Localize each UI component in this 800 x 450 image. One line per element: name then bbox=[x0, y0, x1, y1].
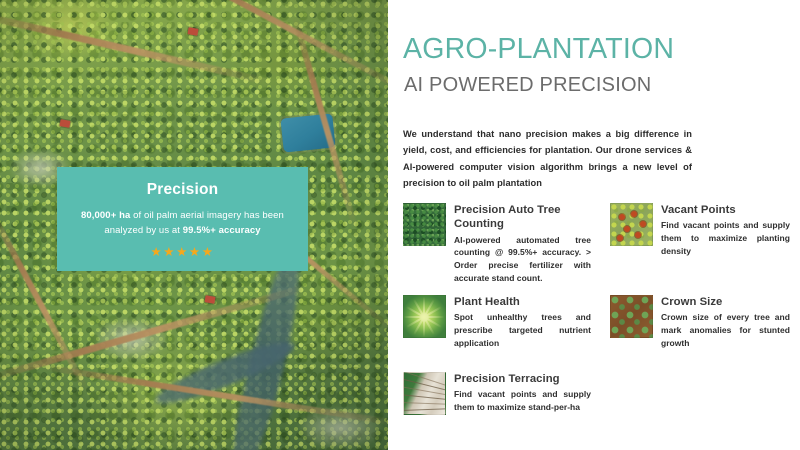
vacant-marker-dot bbox=[617, 235, 623, 241]
terracing-thumbnail bbox=[403, 372, 446, 415]
rating-stars: ★★★★★ bbox=[150, 246, 214, 259]
vacant-marker-dot bbox=[624, 226, 630, 232]
feature-precision-terracing: Precision Terracing Find vacant points a… bbox=[403, 372, 591, 415]
vacant-points-thumbnail bbox=[610, 203, 653, 246]
feature-tree-counting: Precision Auto Tree Counting AI-powered … bbox=[403, 203, 591, 284]
feature-description: Spot unhealthy trees and prescribe targe… bbox=[454, 311, 591, 349]
feature-title: Precision Auto Tree Counting bbox=[454, 203, 591, 232]
intro-paragraph: We understand that nano precision makes … bbox=[403, 126, 692, 191]
terrace-contour-line bbox=[403, 394, 446, 402]
callout-title: Precision bbox=[147, 181, 219, 199]
feature-title: Crown Size bbox=[661, 295, 790, 309]
feature-text-block: Precision Auto Tree Counting AI-powered … bbox=[454, 203, 591, 284]
slide-canvas: Precision 80,000+ ha of oil palm aerial … bbox=[0, 0, 800, 450]
feature-description: Crown size of every tree and mark anomal… bbox=[661, 311, 790, 349]
aerial-plantation-image: Precision 80,000+ ha of oil palm aerial … bbox=[0, 0, 388, 450]
callout-stat-value: 80,000+ ha bbox=[81, 210, 130, 221]
feature-description: Find vacant points and supply them to ma… bbox=[661, 219, 790, 257]
feature-text-block: Plant Health Spot unhealthy trees and pr… bbox=[454, 295, 591, 349]
feature-title: Precision Terracing bbox=[454, 372, 591, 386]
vacant-marker-dot bbox=[635, 232, 641, 238]
feature-text-block: Vacant Points Find vacant points and sup… bbox=[661, 203, 790, 257]
vacant-marker-dot bbox=[619, 214, 625, 220]
vacant-marker-dot bbox=[631, 211, 637, 217]
feature-description: Find vacant points and supply them to ma… bbox=[454, 388, 591, 413]
content-panel: AGRO-PLANTATION AI POWERED PRECISION We … bbox=[388, 0, 800, 450]
feature-vacant-points: Vacant Points Find vacant points and sup… bbox=[610, 203, 790, 257]
feature-title: Plant Health bbox=[454, 295, 591, 309]
plant-health-thumbnail bbox=[403, 295, 446, 338]
callout-accuracy-value: 99.5%+ accuracy bbox=[183, 225, 261, 236]
page-title: AGRO-PLANTATION bbox=[403, 33, 674, 66]
feature-title: Vacant Points bbox=[661, 203, 790, 217]
feature-description: AI-powered automated tree counting @ 99.… bbox=[454, 234, 591, 284]
terrace-contour-line bbox=[403, 402, 446, 405]
precision-callout-card: Precision 80,000+ ha of oil palm aerial … bbox=[57, 167, 308, 271]
feature-plant-health: Plant Health Spot unhealthy trees and pr… bbox=[403, 295, 591, 349]
terrace-contour-line bbox=[403, 408, 446, 411]
callout-body-text: 80,000+ ha of oil palm aerial imagery ha… bbox=[79, 209, 287, 238]
feature-desc-accuracy: 99.5%+ accuracy. bbox=[508, 247, 581, 257]
feature-text-block: Precision Terracing Find vacant points a… bbox=[454, 372, 591, 415]
vacant-marker-dot bbox=[640, 221, 646, 227]
page-subtitle: AI POWERED PRECISION bbox=[404, 74, 651, 97]
feature-text-block: Crown Size Crown size of every tree and … bbox=[661, 295, 790, 349]
crown-size-thumbnail bbox=[610, 295, 653, 338]
feature-crown-size: Crown Size Crown size of every tree and … bbox=[610, 295, 790, 349]
dense-canopy-thumbnail bbox=[403, 203, 446, 246]
